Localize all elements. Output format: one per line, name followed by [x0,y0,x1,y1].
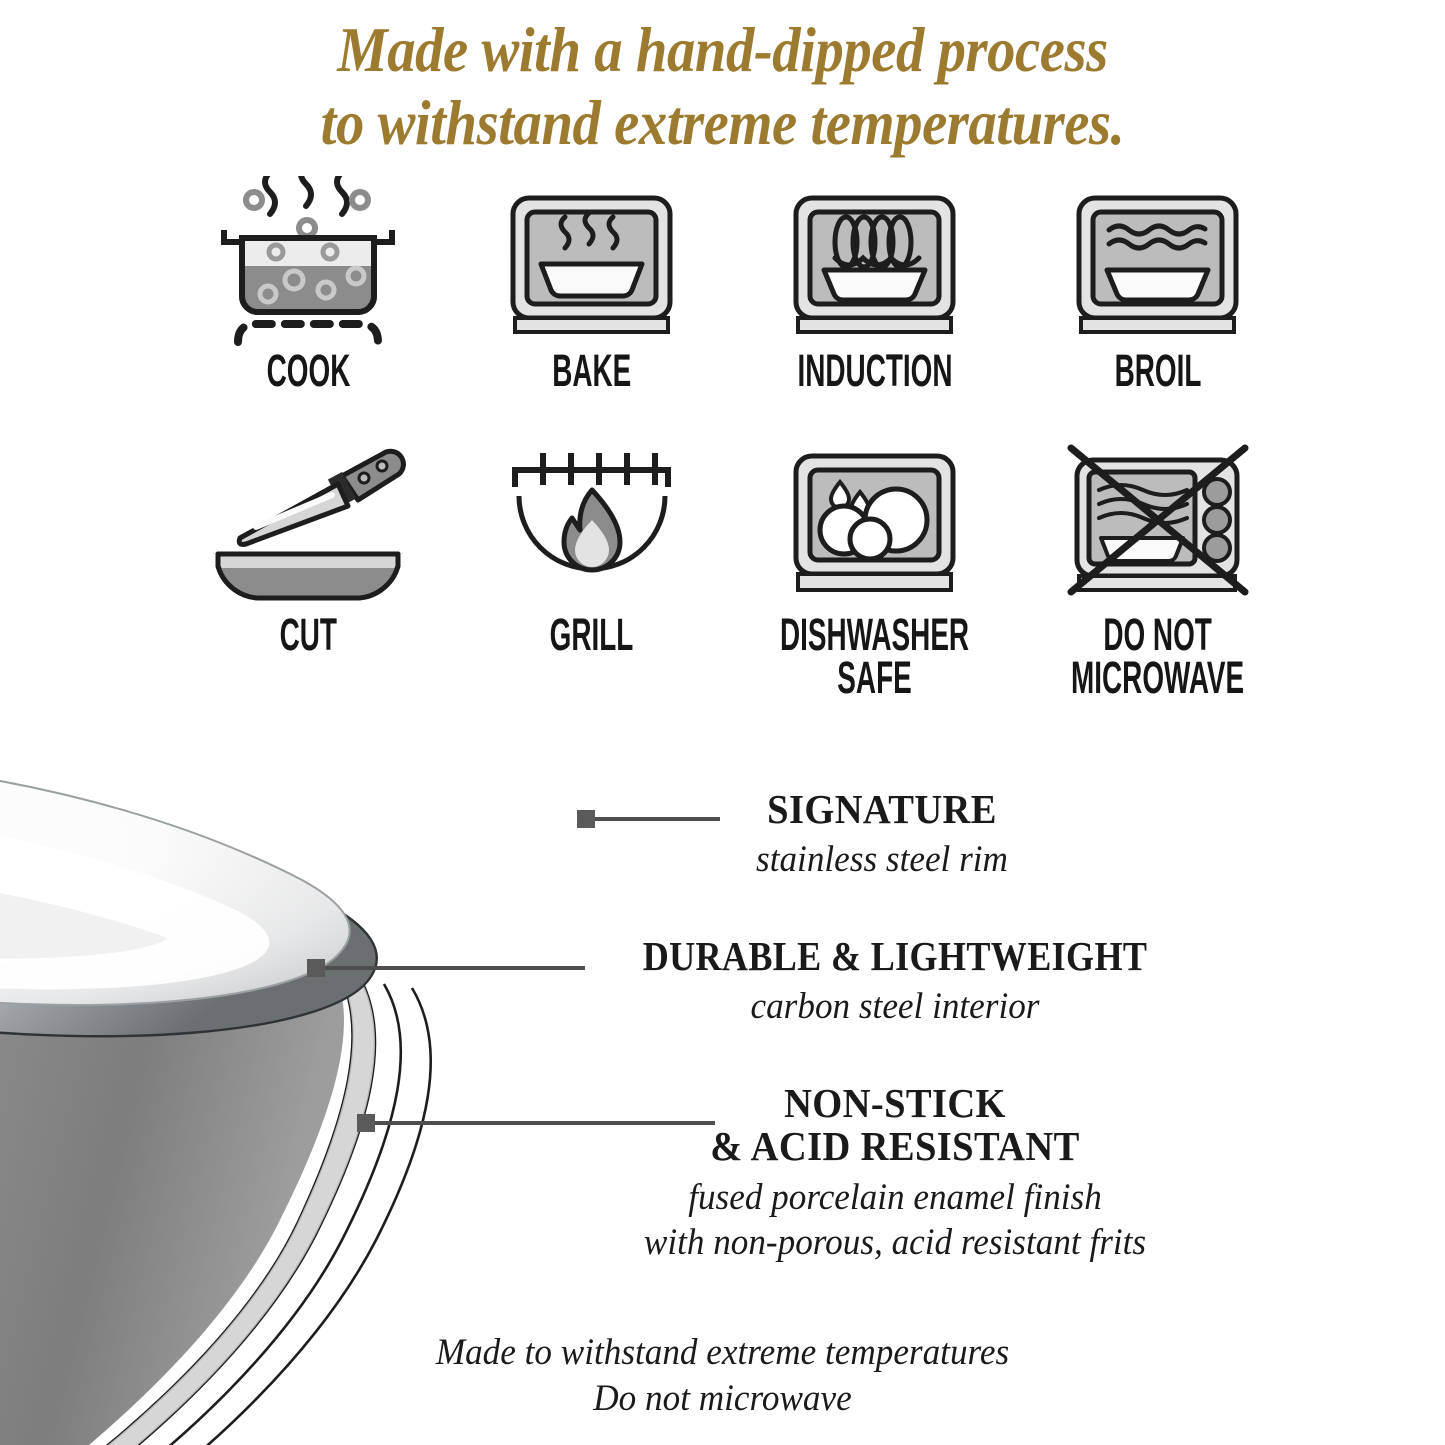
feature-label: BAKE [552,350,631,392]
leader-dot [357,1114,375,1132]
feature-row-1: COOK [178,176,1288,392]
feature-do-not-microwave: DO NOT MICROWAVE [1028,440,1288,699]
callout-title: NON-STICK [524,1082,1267,1125]
callout-subtitle: stainless steel rim [635,837,1129,882]
infographic-page: Made with a hand-dipped process to withs… [0,0,1445,1445]
feature-broil: BROIL [1028,176,1288,392]
headline-line-2: to withstand extreme temperatures. [72,87,1373,160]
page-title: Made with a hand-dipped process to withs… [72,14,1373,160]
grill-flame-icon [499,440,684,610]
feature-dishwasher-safe: DISHWASHER SAFE [745,440,1005,699]
knife-cut-icon [206,440,411,610]
oven-bake-icon [499,176,684,346]
leader-dot [307,959,325,977]
no-microwave-icon [1055,440,1260,610]
callout-subtitle: fused porcelain enamel finish with non-p… [520,1175,1271,1265]
cooking-pot-icon [208,176,408,346]
callout-durable-lightweight: DURABLE & LIGHTWEIGHT carbon steel inter… [500,935,1290,1030]
dishwasher-icon [782,440,967,610]
feature-label: DISHWASHER SAFE [780,614,969,699]
feature-label: COOK [266,350,350,392]
callout-signature: SIGNATURE stainless steel rim [622,788,1142,883]
callout-title: SIGNATURE [638,788,1127,831]
footer-line-1: Made to withstand extreme temperatures [36,1330,1409,1376]
oven-broil-icon [1065,176,1250,346]
feature-label: BROIL [1115,350,1202,392]
feature-label: DO NOT MICROWAVE [1071,614,1244,699]
leader-dot [577,810,595,828]
callout-title: DURABLE & LIGHTWEIGHT [547,935,1242,978]
footer-note: Made to withstand extreme temperatures D… [36,1330,1409,1423]
headline-line-1: Made with a hand-dipped process [72,14,1373,87]
callout-title-line-2: & ACID RESISTANT [524,1125,1267,1168]
feature-label: INDUCTION [797,350,952,392]
induction-coil-icon [782,176,967,346]
callout-subtitle: carbon steel interior [520,984,1271,1029]
callout-non-stick-acid-resistant: NON-STICK & ACID RESISTANT fused porcela… [500,1082,1290,1265]
feature-bake: BAKE [461,176,721,392]
footer-line-2: Do not microwave [36,1376,1409,1422]
feature-cook: COOK [178,176,438,392]
feature-induction: INDUCTION [745,176,1005,392]
